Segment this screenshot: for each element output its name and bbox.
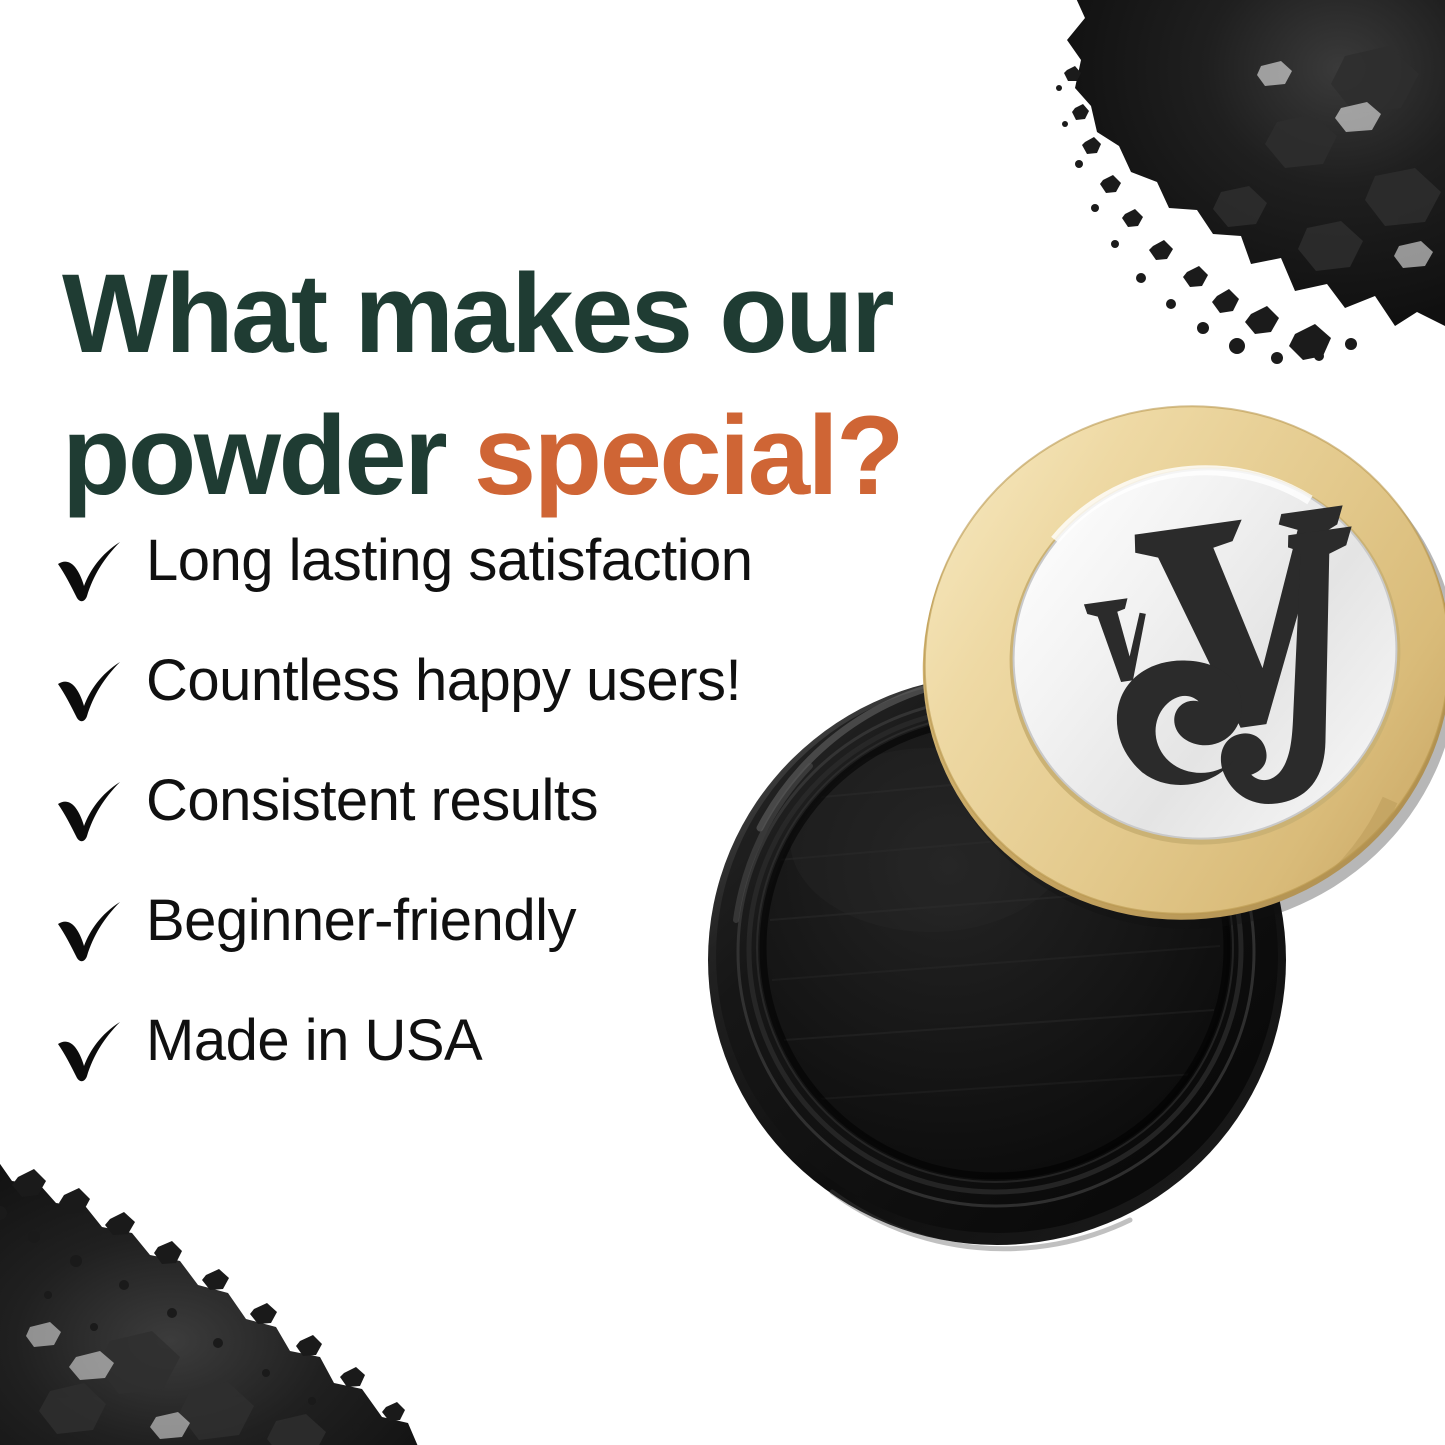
benefit-label: Beginner-friendly — [146, 890, 576, 952]
check-mark-icon — [54, 1010, 146, 1090]
list-item: Long lasting satisfaction — [54, 530, 954, 650]
list-item: Consistent results — [54, 770, 954, 890]
check-mark-icon — [54, 650, 146, 730]
marketing-image-canvas: What makes ourpowder special? Long lasti… — [0, 0, 1445, 1445]
brand-monogram-vj — [1075, 505, 1388, 827]
list-item: Beginner-friendly — [54, 890, 954, 1010]
crushed-black-powder-bottom-left — [0, 1161, 420, 1445]
benefit-label: Made in USA — [146, 1010, 482, 1072]
list-item: Countless happy users! — [54, 650, 954, 770]
benefits-list: Long lasting satisfaction Countless happ… — [54, 530, 954, 1130]
check-mark-icon — [54, 770, 146, 850]
benefit-label: Countless happy users! — [146, 650, 741, 712]
headline-line-1: What makes our — [62, 251, 892, 376]
crushed-black-powder-top-right — [1045, 0, 1445, 396]
check-mark-icon — [54, 890, 146, 970]
list-item: Made in USA — [54, 1010, 954, 1130]
headline-line-2-prefix: powder — [62, 393, 474, 518]
headline-accent-word: special? — [474, 393, 902, 518]
benefit-label: Long lasting satisfaction — [146, 530, 753, 592]
page-headline: What makes ourpowder special? — [62, 243, 1042, 527]
benefit-label: Consistent results — [146, 770, 598, 832]
check-mark-icon — [54, 530, 146, 610]
